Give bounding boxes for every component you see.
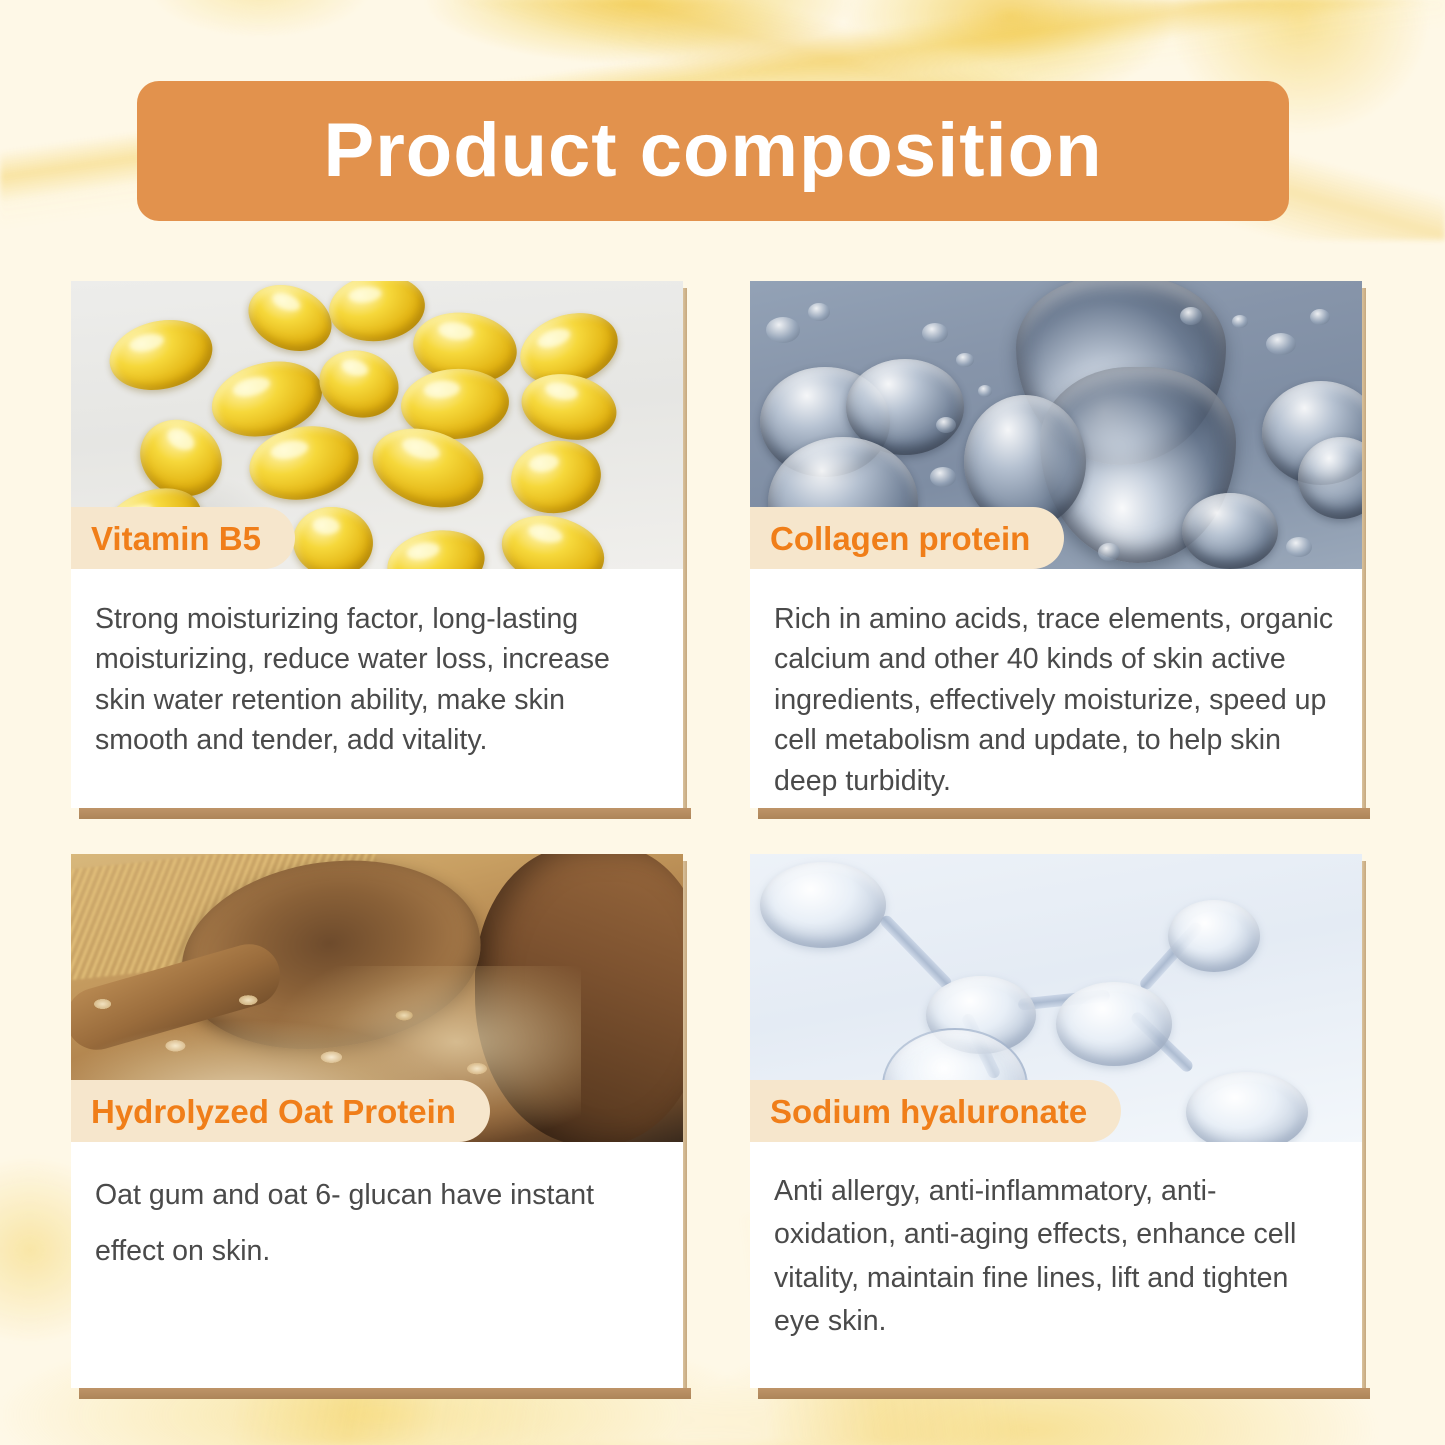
composition-card-collagen-protein: Collagen protein Rich in amino acids, tr…: [750, 281, 1362, 808]
card-body: Oat gum and oat 6- glucan have instant e…: [71, 1142, 683, 1299]
page-title: Product composition: [324, 113, 1103, 189]
header-banner: Product composition: [137, 81, 1289, 221]
card-edge-bottom: [79, 808, 691, 819]
ingredient-badge-vitamin-b5: Vitamin B5: [71, 507, 295, 569]
card-edge-right: [683, 288, 687, 819]
card-edge-right: [1362, 288, 1366, 819]
water-droplets-photo: Collagen protein: [750, 281, 1362, 569]
composition-card-vitamin-b5: Vitamin B5 Strong moisturizing factor, l…: [71, 281, 683, 808]
composition-card-grid: Vitamin B5 Strong moisturizing factor, l…: [71, 281, 1374, 1388]
ingredient-description: Anti allergy, anti-inflammatory, anti-ox…: [774, 1170, 1336, 1343]
ingredient-name: Hydrolyzed Oat Protein: [91, 1095, 456, 1128]
ingredient-name: Sodium hyaluronate: [770, 1095, 1087, 1128]
composition-card-sodium-hyaluronate: Sodium hyaluronate Anti allergy, anti-in…: [750, 854, 1362, 1388]
card-edge-right: [683, 861, 687, 1399]
composition-card-hydrolyzed-oat-protein: Hydrolyzed Oat Protein Oat gum and oat 6…: [71, 854, 683, 1388]
product-composition-infographic: Product composition: [0, 0, 1445, 1445]
card-edge-bottom: [79, 1388, 691, 1399]
ingredient-name: Vitamin B5: [91, 522, 261, 555]
ingredient-badge-hydrolyzed-oat-protein: Hydrolyzed Oat Protein: [71, 1080, 490, 1142]
card-body: Rich in amino acids, trace elements, org…: [750, 569, 1362, 821]
molecule-structure-photo: Sodium hyaluronate: [750, 854, 1362, 1142]
card-edge-right: [1362, 861, 1366, 1399]
card-body: Anti allergy, anti-inflammatory, anti-ox…: [750, 1142, 1362, 1363]
oats-spoon-photo: Hydrolyzed Oat Protein: [71, 854, 683, 1142]
card-edge-bottom: [758, 1388, 1370, 1399]
ingredient-badge-sodium-hyaluronate: Sodium hyaluronate: [750, 1080, 1121, 1142]
card-edge-bottom: [758, 808, 1370, 819]
ingredient-description: Strong moisturizing factor, long-lasting…: [95, 599, 657, 761]
ingredient-name: Collagen protein: [770, 522, 1030, 555]
ingredient-badge-collagen-protein: Collagen protein: [750, 507, 1064, 569]
ingredient-description: Rich in amino acids, trace elements, org…: [774, 599, 1336, 801]
ingredient-description: Oat gum and oat 6- glucan have instant e…: [95, 1168, 657, 1279]
card-body: Strong moisturizing factor, long-lasting…: [71, 569, 683, 781]
vitamin-capsules-photo: Vitamin B5: [71, 281, 683, 569]
